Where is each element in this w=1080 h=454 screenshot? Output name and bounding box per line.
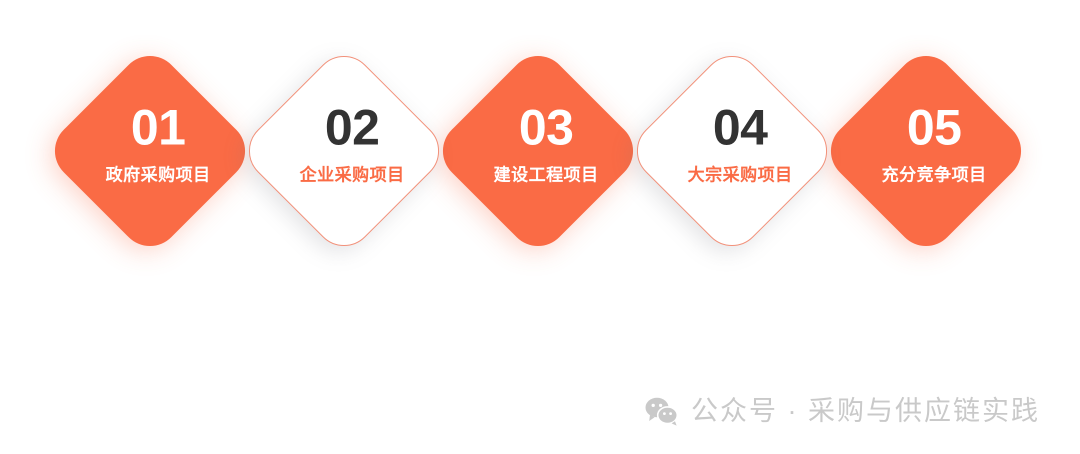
step-label-02: 企业采购项目 bbox=[257, 166, 447, 183]
step-label-04: 大宗采购项目 bbox=[645, 166, 835, 183]
wechat-icon bbox=[645, 396, 679, 426]
step-label-05: 充分竞争项目 bbox=[839, 166, 1029, 183]
step-number-05: 05 bbox=[839, 102, 1029, 152]
footer-attribution: 公众号 · 采购与供应链实践 bbox=[645, 396, 1040, 426]
step-diamond-05[interactable]: 05 充分竞争项目 bbox=[819, 44, 1034, 259]
step-content-01: 01 政府采购项目 bbox=[63, 102, 253, 183]
step-number-04: 04 bbox=[645, 102, 835, 152]
step-content-03: 03 建设工程项目 bbox=[451, 102, 641, 183]
step-label-03: 建设工程项目 bbox=[451, 166, 641, 183]
step-number-03: 03 bbox=[451, 102, 641, 152]
diamond-step-chain: 01 政府采购项目 02 企业采购项目 03 建设工程项目 04 大宗采购项目 bbox=[0, 0, 1080, 360]
step-number-01: 01 bbox=[63, 102, 253, 152]
footer-text: 公众号 · 采购与供应链实践 bbox=[691, 398, 1040, 425]
step-content-02: 02 企业采购项目 bbox=[257, 102, 447, 183]
step-diamond-03[interactable]: 03 建设工程项目 bbox=[431, 44, 646, 259]
step-content-05: 05 充分竞争项目 bbox=[839, 102, 1029, 183]
step-content-04: 04 大宗采购项目 bbox=[645, 102, 835, 183]
step-label-01: 政府采购项目 bbox=[63, 166, 253, 183]
step-diamond-04[interactable]: 04 大宗采购项目 bbox=[625, 44, 840, 259]
step-diamond-02[interactable]: 02 企业采购项目 bbox=[237, 44, 452, 259]
step-diamond-01[interactable]: 01 政府采购项目 bbox=[43, 44, 258, 259]
slide-canvas: 01 政府采购项目 02 企业采购项目 03 建设工程项目 04 大宗采购项目 bbox=[0, 0, 1080, 454]
step-number-02: 02 bbox=[257, 102, 447, 152]
